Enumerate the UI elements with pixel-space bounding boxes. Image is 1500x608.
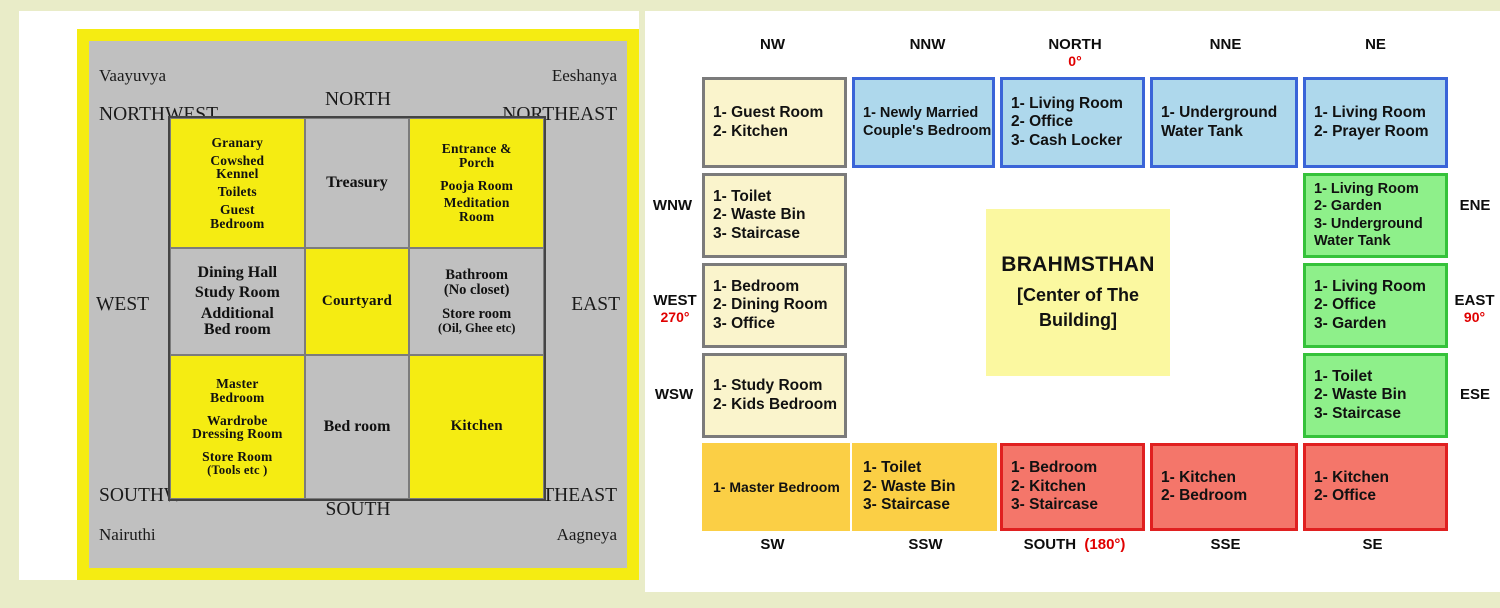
brahmsthan-title: BRAHMSTHAN bbox=[1001, 253, 1155, 277]
direction-degrees-north: 0° bbox=[1000, 53, 1150, 69]
cell-line: Porch bbox=[459, 156, 494, 170]
direction-label-west-text: WEST bbox=[653, 292, 696, 309]
zone-item: 2- Waste Bin bbox=[713, 206, 836, 224]
zone-item: 1- Kitchen bbox=[1314, 469, 1437, 487]
zone-item: 2- Garden bbox=[1314, 198, 1437, 215]
direction-label-nne: NNE bbox=[1153, 36, 1298, 53]
vastu-chart-yellow-frame: Vaayuvya NORTHWEST Eeshanya NORTHEAST SO… bbox=[77, 29, 639, 580]
sixteen-direction-vastu-panel: NW NNW NORTH 0° NNE NE WNW WEST 270° WSW… bbox=[645, 11, 1500, 592]
zone-item: 2- Kitchen bbox=[713, 123, 836, 141]
cell-line: Wardrobe bbox=[207, 414, 268, 428]
grid-cell-west: Dining Hall Study Room Additional Bed ro… bbox=[170, 248, 305, 355]
grid-cell-southwest: Master Bedroom Wardrobe Dressing Room St… bbox=[170, 355, 305, 499]
zone-item: 3- Staircase bbox=[1011, 496, 1134, 514]
zone-item: 1- Living Room bbox=[1314, 181, 1437, 198]
zone-box-se[interactable]: 1- Kitchen 2- Office bbox=[1303, 443, 1448, 531]
vastu-3x3-grid: Granary Cowshed Kennel Toilets Guest Bed… bbox=[168, 116, 546, 501]
zone-item: 1- Toilet bbox=[863, 459, 986, 477]
direction-label-nne-text: NNE bbox=[1210, 36, 1242, 53]
zone-box-east[interactable]: 1- Living Room 2- Office 3- Garden bbox=[1303, 263, 1448, 348]
grid-cell-east: Bathroom (No closet) Store room (Oil, Gh… bbox=[409, 248, 544, 355]
direction-label-ese-text: ESE bbox=[1460, 386, 1490, 403]
zone-box-wsw[interactable]: 1- Study Room 2- Kids Bedroom bbox=[702, 353, 847, 438]
cell-line: Additional bbox=[201, 306, 274, 322]
cell-line: Dining Hall bbox=[198, 265, 278, 281]
zone-item: 2- Office bbox=[1011, 113, 1134, 131]
northwest-sanskrit-label: Vaayuvya bbox=[99, 67, 218, 85]
zone-item: 2- Office bbox=[1314, 487, 1437, 505]
zone-item: 1- Master Bedroom bbox=[713, 479, 839, 496]
direction-label-north-text: NORTH bbox=[1048, 36, 1101, 53]
left-cardinal-label-east: EAST bbox=[571, 294, 620, 314]
left-cardinal-label-south: SOUTH bbox=[325, 500, 390, 520]
direction-label-south: SOUTH (180°) bbox=[997, 536, 1152, 553]
zone-box-north[interactable]: 1- Living Room 2- Office 3- Cash Locker bbox=[1000, 77, 1145, 168]
direction-label-wnw: WNW bbox=[645, 197, 700, 214]
direction-label-nnw-text: NNW bbox=[910, 36, 946, 53]
cell-line: Bed room bbox=[324, 419, 391, 435]
zone-item: 1- Living Room bbox=[1314, 104, 1437, 122]
vastu-chart-field: Vaayuvya NORTHWEST Eeshanya NORTHEAST SO… bbox=[89, 41, 627, 568]
grid-cell-north: Treasury bbox=[305, 118, 410, 248]
direction-label-east: EAST 90° bbox=[1447, 292, 1500, 325]
direction-label-wsw-text: WSW bbox=[655, 386, 693, 403]
left-cardinal-label-west: WEST bbox=[96, 294, 149, 314]
zone-item: 2- Dining Room bbox=[713, 296, 836, 314]
zone-item: 1- Study Room bbox=[713, 377, 836, 395]
direction-label-ene-text: ENE bbox=[1460, 197, 1491, 214]
cell-line: Bedroom bbox=[210, 391, 264, 405]
direction-label-ese: ESE bbox=[1450, 386, 1500, 403]
grid-cell-northeast: Entrance & Porch Pooja Room Meditation R… bbox=[409, 118, 544, 248]
zone-box-nne[interactable]: 1- Underground Water Tank bbox=[1150, 77, 1298, 168]
brahmsthan-subtitle-line2: Building] bbox=[1039, 309, 1117, 332]
southeast-sanskrit-label: Aagneya bbox=[503, 526, 617, 544]
zone-item: 3- Cash Locker bbox=[1011, 132, 1134, 150]
direction-label-ssw-text: SSW bbox=[908, 536, 942, 553]
left-cardinal-label-north: NORTH bbox=[325, 90, 391, 110]
direction-label-wsw: WSW bbox=[645, 386, 703, 403]
zone-item: 2- Waste Bin bbox=[863, 478, 986, 496]
zone-box-ssw[interactable]: 1- Toilet 2- Waste Bin 3- Staircase bbox=[852, 443, 997, 531]
cell-line: Meditation bbox=[444, 196, 510, 210]
direction-label-ssw: SSW bbox=[853, 536, 998, 553]
zone-item: 3- Office bbox=[713, 315, 836, 333]
direction-degrees-south: (180°) bbox=[1084, 536, 1125, 553]
cell-line: Cowshed bbox=[210, 154, 264, 168]
zone-item: 2- Bedroom bbox=[1161, 487, 1287, 505]
northeast-sanskrit-label: Eeshanya bbox=[502, 67, 617, 85]
cell-line: Bed room bbox=[204, 322, 271, 338]
grid-cell-northwest: Granary Cowshed Kennel Toilets Guest Bed… bbox=[170, 118, 305, 248]
direction-label-ene: ENE bbox=[1450, 197, 1500, 214]
zone-item: 1- Bedroom bbox=[713, 278, 836, 296]
zone-item: 2- Waste Bin bbox=[1314, 386, 1437, 404]
zone-box-nw[interactable]: 1- Guest Room 2- Kitchen bbox=[702, 77, 847, 168]
zone-item: 1- Living Room bbox=[1314, 278, 1437, 296]
direction-label-se-text: SE bbox=[1362, 536, 1382, 553]
cell-line: Entrance & bbox=[442, 142, 512, 156]
cell-line: Kitchen bbox=[451, 419, 503, 434]
zone-item: 1- Guest Room bbox=[713, 104, 836, 122]
zone-box-ne[interactable]: 1- Living Room 2- Prayer Room bbox=[1303, 77, 1448, 168]
zone-box-west[interactable]: 1- Bedroom 2- Dining Room 3- Office bbox=[702, 263, 847, 348]
zone-box-nnw[interactable]: 1- Newly Married Couple's Bedroom bbox=[852, 77, 995, 168]
cell-line: Bathroom bbox=[445, 268, 508, 283]
zone-box-wnw[interactable]: 1- Toilet 2- Waste Bin 3- Staircase bbox=[702, 173, 847, 258]
cell-line: Pooja Room bbox=[440, 179, 513, 193]
direction-label-nw-text: NW bbox=[760, 36, 785, 53]
cell-line: Study Room bbox=[195, 285, 280, 301]
cell-line: Store room bbox=[442, 307, 511, 322]
cell-line: (Oil, Ghee etc) bbox=[438, 322, 515, 335]
zone-item: 1- Toilet bbox=[713, 188, 836, 206]
cell-line: Granary bbox=[211, 136, 263, 150]
direction-label-wnw-text: WNW bbox=[653, 197, 692, 214]
cell-line: Dressing Room bbox=[192, 427, 282, 441]
grid-cell-center-courtyard: Courtyard bbox=[305, 248, 410, 355]
cell-line: Guest bbox=[220, 203, 255, 217]
direction-label-sse-text: SSE bbox=[1210, 536, 1240, 553]
brahmsthan-subtitle-line1: [Center of The bbox=[1017, 284, 1139, 307]
direction-label-sw: SW bbox=[700, 536, 845, 553]
zone-item: 1- Bedroom bbox=[1011, 459, 1134, 477]
direction-degrees-east: 90° bbox=[1447, 309, 1500, 325]
zone-item: 3- Staircase bbox=[713, 225, 836, 243]
zone-item: 3- Staircase bbox=[1314, 405, 1437, 423]
zone-item: 3- Garden bbox=[1314, 315, 1437, 333]
zone-item: 2- Kids Bedroom bbox=[713, 396, 836, 414]
zone-item: 1- Toilet bbox=[1314, 368, 1437, 386]
zone-item: 1- Living Room bbox=[1011, 95, 1134, 113]
direction-degrees-west: 270° bbox=[645, 309, 705, 325]
zone-box-sse[interactable]: 1- Kitchen 2- Bedroom bbox=[1150, 443, 1298, 531]
zone-item: Couple's Bedroom bbox=[863, 123, 984, 140]
zone-item: 1- Newly Married bbox=[863, 105, 984, 122]
cell-line: Courtyard bbox=[322, 294, 392, 309]
cell-line: Toilets bbox=[218, 185, 257, 199]
grid-cell-south: Bed room bbox=[305, 355, 410, 499]
cell-line: Bedroom bbox=[210, 217, 264, 231]
cell-line: Treasury bbox=[326, 175, 388, 191]
southwest-sanskrit-label: Nairuthi bbox=[99, 526, 217, 544]
cell-line: Kennel bbox=[216, 167, 258, 181]
zone-item: 3- Staircase bbox=[863, 496, 986, 514]
zone-item: 3- Underground bbox=[1314, 216, 1437, 233]
zone-item: 1- Kitchen bbox=[1161, 469, 1287, 487]
zone-box-sw[interactable]: 1- Master Bedroom bbox=[702, 443, 850, 531]
direction-label-ne-text: NE bbox=[1365, 36, 1386, 53]
cell-line: (No closet) bbox=[444, 283, 510, 298]
zone-item: 2- Office bbox=[1314, 296, 1437, 314]
direction-label-north: NORTH 0° bbox=[1000, 36, 1150, 69]
direction-label-nnw: NNW bbox=[855, 36, 1000, 53]
direction-label-nw: NW bbox=[700, 36, 845, 53]
direction-label-south-text: SOUTH bbox=[1024, 536, 1077, 553]
direction-label-west: WEST 270° bbox=[645, 292, 705, 325]
cell-line: Master bbox=[216, 377, 258, 391]
direction-label-ne: NE bbox=[1303, 36, 1448, 53]
direction-label-sse: SSE bbox=[1153, 536, 1298, 553]
direction-label-east-text: EAST bbox=[1454, 292, 1494, 309]
zone-item: Water Tank bbox=[1314, 233, 1437, 250]
direction-label-sw-text: SW bbox=[760, 536, 784, 553]
brahmsthan-center-box: BRAHMSTHAN [Center of The Building] bbox=[986, 209, 1170, 376]
direction-label-se: SE bbox=[1300, 536, 1445, 553]
zone-box-ene[interactable]: 1- Living Room 2- Garden 3- Underground … bbox=[1303, 173, 1448, 258]
cell-line: (Tools etc ) bbox=[207, 464, 267, 477]
grid-cell-southeast: Kitchen bbox=[409, 355, 544, 499]
classic-vastu-chart-panel: Vaayuvya NORTHWEST Eeshanya NORTHEAST SO… bbox=[19, 11, 639, 580]
cell-line: Store Room bbox=[202, 450, 272, 464]
zone-item: 2- Prayer Room bbox=[1314, 123, 1437, 141]
zone-item: 2- Kitchen bbox=[1011, 478, 1134, 496]
zone-item: 1- Underground bbox=[1161, 104, 1287, 122]
zone-box-south[interactable]: 1- Bedroom 2- Kitchen 3- Staircase bbox=[1000, 443, 1145, 531]
cell-line: Room bbox=[459, 210, 494, 224]
zone-item: Water Tank bbox=[1161, 123, 1287, 141]
zone-box-ese[interactable]: 1- Toilet 2- Waste Bin 3- Staircase bbox=[1303, 353, 1448, 438]
